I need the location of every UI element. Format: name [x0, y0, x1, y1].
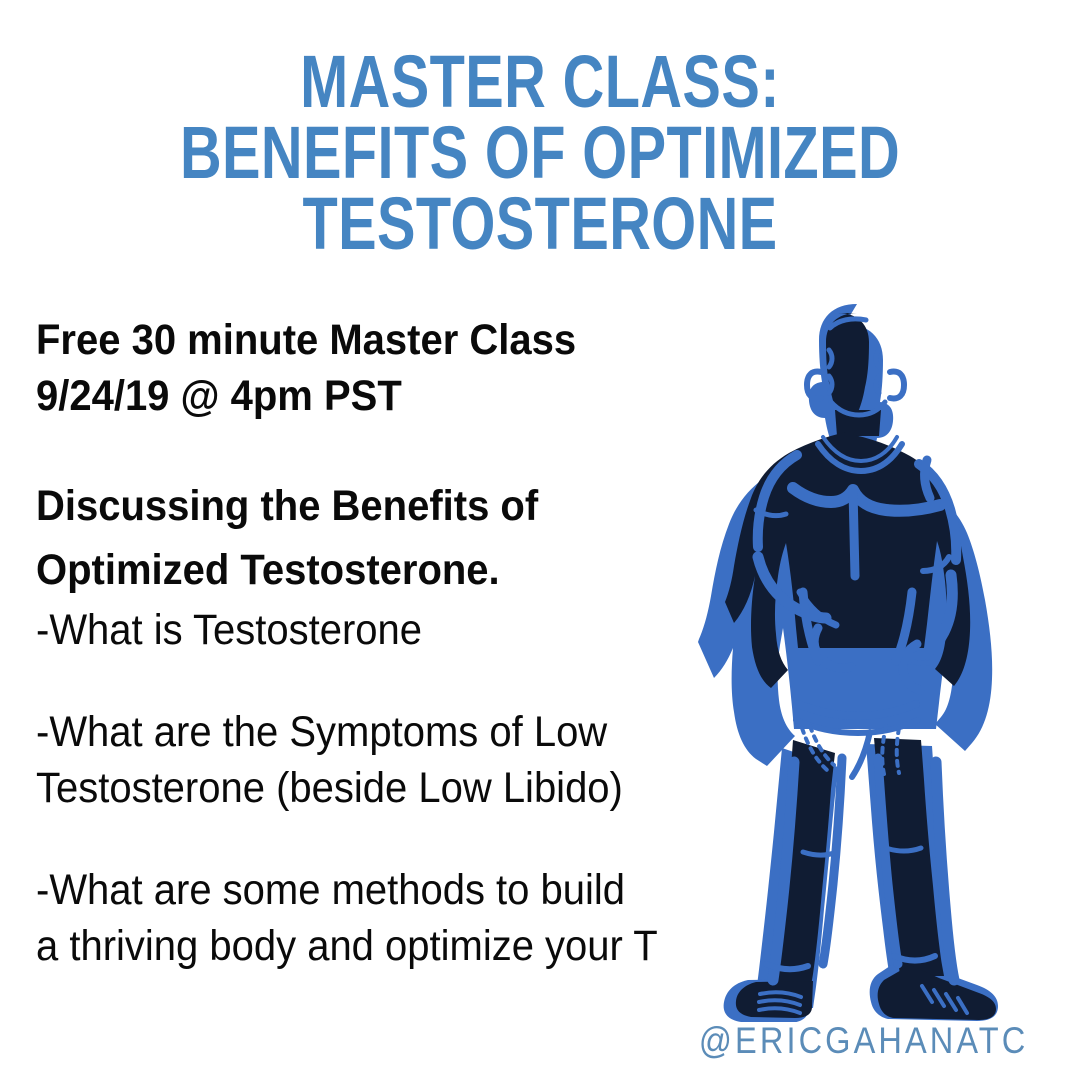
- poster-canvas: MASTER CLASS: BENEFITS OF OPTIMIZED TEST…: [0, 0, 1080, 1080]
- right-ear: [890, 372, 904, 399]
- right-delt-inner: [925, 460, 930, 498]
- spacer: [36, 658, 736, 704]
- class-details: Free 30 minute Master Class 9/24/19 @ 4p…: [36, 312, 736, 424]
- spacer: [36, 424, 736, 474]
- bullet-2-line-1: -What are the Symptoms of Low: [36, 704, 687, 760]
- topic-heading-line-1: Discussing the Benefits of: [36, 474, 687, 538]
- sternum-line: [853, 490, 855, 576]
- bullet-item-3: -What are some methods to build a thrivi…: [36, 862, 736, 974]
- figure-body-group: [698, 304, 998, 1022]
- bullet-3-line-2: a thriving body and optimize your T: [36, 918, 687, 974]
- class-details-line-1: Free 30 minute Master Class: [36, 312, 687, 368]
- title-line-1: MASTER CLASS:: [119, 46, 961, 117]
- social-handle: @ERICGAHANATC: [699, 1020, 1028, 1062]
- topic-heading-line-2: Optimized Testosterone.: [36, 538, 687, 602]
- bullet-3-line-1: -What are some methods to build: [36, 862, 687, 918]
- bullet-item-1: -What is Testosterone: [36, 602, 736, 658]
- body-copy: Free 30 minute Master Class 9/24/19 @ 4p…: [36, 312, 736, 974]
- topic-heading: Discussing the Benefits of Optimized Tes…: [36, 474, 736, 602]
- spacer: [36, 816, 736, 862]
- page-title: MASTER CLASS: BENEFITS OF OPTIMIZED TEST…: [0, 46, 1080, 259]
- bullet-2-line-2: Testosterone (beside Low Libido): [36, 760, 687, 816]
- title-line-2: BENEFITS OF OPTIMIZED: [119, 117, 961, 188]
- right-pocket-stitch-2: [897, 728, 899, 773]
- bullet-1-line-1: -What is Testosterone: [36, 602, 687, 658]
- right-knuckles: [914, 662, 931, 664]
- bullet-item-2: -What are the Symptoms of Low Testostero…: [36, 704, 736, 816]
- bodybuilder-illustration: [690, 292, 1035, 1022]
- class-details-line-2: 9/24/19 @ 4pm PST: [36, 368, 687, 424]
- title-line-3: TESTOSTERONE: [119, 188, 961, 259]
